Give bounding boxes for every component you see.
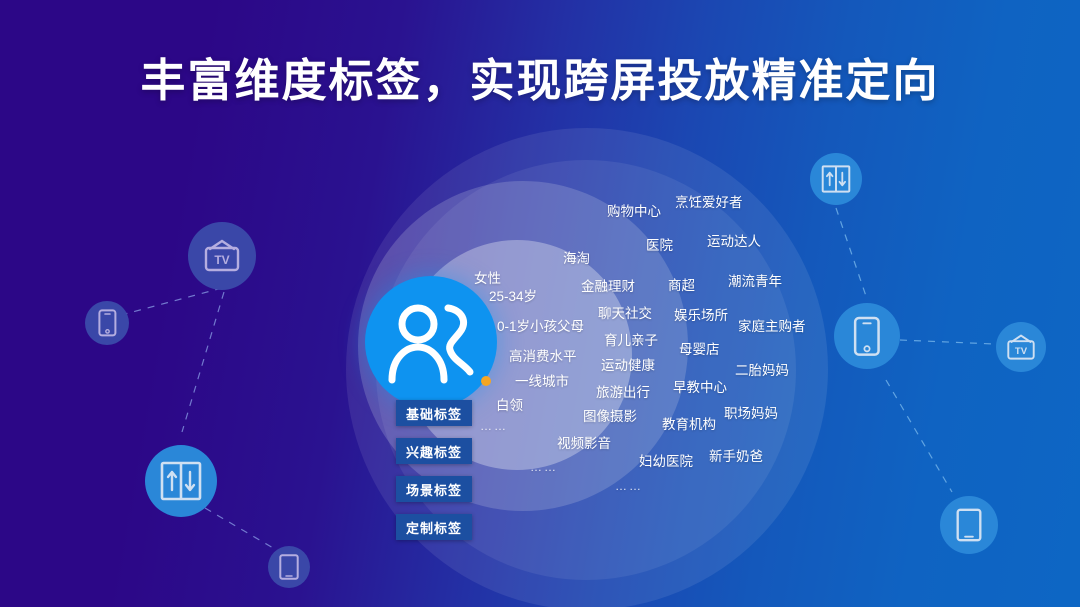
device-tablet-bottom-left[interactable] xyxy=(268,546,310,588)
ring-word: 海淘 xyxy=(563,252,590,266)
device-elevator-left[interactable] xyxy=(145,445,217,517)
ring-word: 购物中心 xyxy=(607,205,661,219)
ring-word: 娱乐场所 xyxy=(674,309,728,323)
ring-word: 育儿亲子 xyxy=(604,334,658,348)
tablet-icon xyxy=(956,508,982,542)
ring-word: 二胎妈妈 xyxy=(735,364,789,378)
accent-dot xyxy=(481,376,491,386)
tag-interest-button[interactable]: 兴趣标签 xyxy=(396,438,472,464)
device-phone-left[interactable] xyxy=(85,301,129,345)
ring-word: 商超 xyxy=(668,279,695,293)
ring-word: 家庭主购者 xyxy=(738,320,806,334)
people-icon xyxy=(386,300,478,386)
ring-word: 烹饪爱好者 xyxy=(675,196,743,210)
ring-word: 潮流青年 xyxy=(728,275,782,289)
ring-word: 25-34岁 xyxy=(489,290,537,304)
ring-word: …… xyxy=(530,461,558,473)
tv-icon: TV xyxy=(202,239,242,273)
ring-word: 0-1岁小孩父母 xyxy=(497,320,584,334)
device-tv-right[interactable]: TV xyxy=(996,322,1046,372)
ring-word: 高消费水平 xyxy=(509,350,577,364)
device-phone-right[interactable] xyxy=(834,303,900,369)
page-title: 丰富维度标签，实现跨屏投放精准定向 xyxy=(0,44,1080,109)
ring-word: 教育机构 xyxy=(662,418,716,432)
ring-word: 早教中心 xyxy=(673,381,727,395)
ring-word: …… xyxy=(615,480,643,492)
svg-text:TV: TV xyxy=(1015,345,1028,356)
ring-word: 职场妈妈 xyxy=(724,407,778,421)
ring-word: …… xyxy=(480,420,508,432)
ring-word: 视频影音 xyxy=(557,437,611,451)
smartphone-icon xyxy=(98,309,117,337)
svg-text:TV: TV xyxy=(214,253,229,267)
ring-word: 金融理财 xyxy=(581,280,635,294)
elevator-icon xyxy=(821,165,851,193)
ring-word: 医院 xyxy=(646,239,673,253)
elevator-icon xyxy=(160,461,202,501)
tag-custom-button[interactable]: 定制标签 xyxy=(396,514,472,540)
ring-word: 图像摄影 xyxy=(583,410,637,424)
ring-word: 一线城市 xyxy=(515,375,569,389)
ring-word: 运动达人 xyxy=(707,235,761,249)
tag-category-list: 基础标签 兴趣标签 场景标签 定制标签 xyxy=(396,400,472,540)
ring-word: 白领 xyxy=(496,399,523,413)
tv-icon: TV xyxy=(1005,334,1037,361)
device-tablet-bottom-right[interactable] xyxy=(940,496,998,554)
ring-word: 旅游出行 xyxy=(596,386,650,400)
ring-word: 运动健康 xyxy=(601,359,655,373)
ring-word: 母婴店 xyxy=(679,343,720,357)
device-elevator-top-right[interactable] xyxy=(810,153,862,205)
device-tv-left[interactable]: TV xyxy=(188,222,256,290)
tag-scene-button[interactable]: 场景标签 xyxy=(396,476,472,502)
slide-canvas: 丰富维度标签，实现跨屏投放精准定向 女性 25-34岁 0-1岁小孩父母 高消费… xyxy=(0,0,1080,607)
tag-basic-button[interactable]: 基础标签 xyxy=(396,400,472,426)
ring-word: 妇幼医院 xyxy=(639,455,693,469)
tablet-icon xyxy=(279,554,299,580)
ring-word: 聊天社交 xyxy=(598,307,652,321)
ring-word: 女性 xyxy=(474,272,501,286)
smartphone-icon xyxy=(853,316,881,357)
ring-word: 新手奶爸 xyxy=(709,450,763,464)
